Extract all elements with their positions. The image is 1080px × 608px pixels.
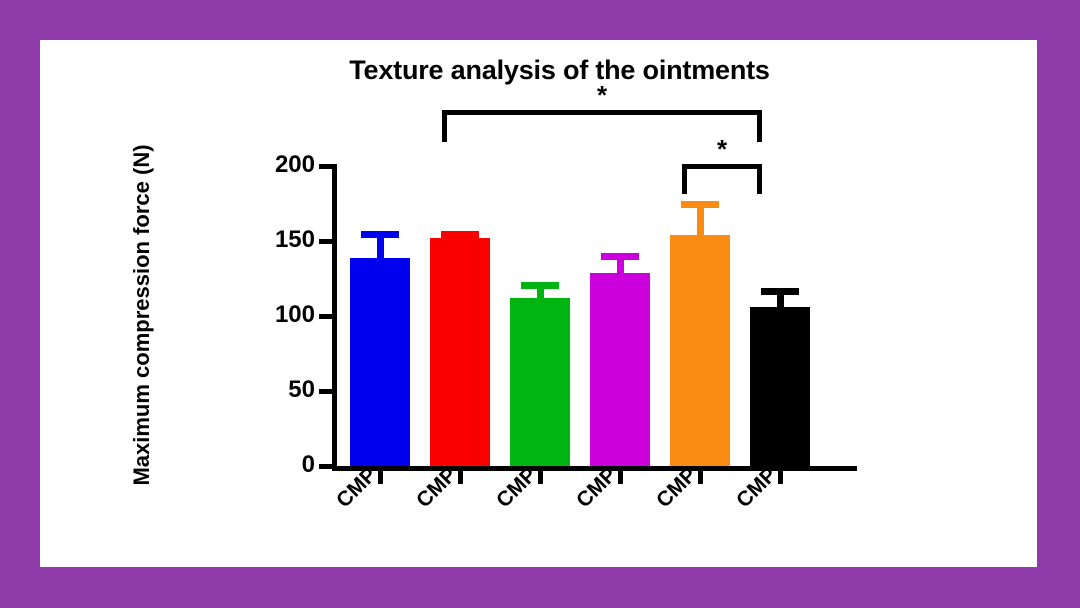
bar-cmp-2	[430, 238, 490, 466]
error-bar-cap	[441, 231, 479, 238]
y-tick-label: 50	[195, 378, 315, 402]
y-tick-label: 100	[195, 303, 315, 327]
significance-star: *	[590, 82, 614, 108]
y-axis-line	[332, 164, 337, 471]
y-tick-label: 150	[195, 228, 315, 252]
plot-area: Maximum compression force (N) 0501001502…	[40, 40, 1037, 567]
error-bar-cap	[601, 253, 639, 260]
error-bar-cap	[521, 282, 559, 289]
y-tick-mark	[319, 464, 332, 469]
chart-figure: Texture analysis of the ointments Maximu…	[40, 40, 1037, 567]
significance-star: *	[710, 136, 734, 162]
y-tick-label: 0	[195, 453, 315, 477]
figure-frame: Texture analysis of the ointments Maximu…	[0, 0, 1080, 608]
bar-cmp-6	[750, 307, 810, 466]
y-tick-mark	[319, 389, 332, 394]
error-bar-cap	[681, 201, 719, 208]
error-bar-cap	[761, 288, 799, 295]
error-bar-cap	[361, 231, 399, 238]
y-tick-mark	[319, 239, 332, 244]
y-axis-title: Maximum compression force (N)	[129, 105, 155, 525]
figure-canvas: Texture analysis of the ointments Maximu…	[40, 40, 1037, 567]
bar-cmp-3	[510, 298, 570, 466]
bar-cmp-5	[670, 235, 730, 466]
bar-cmp-4	[590, 273, 650, 467]
y-tick-mark	[319, 164, 332, 169]
significance-bracket	[682, 164, 762, 194]
y-tick-label: 200	[195, 153, 315, 177]
y-tick-mark	[319, 314, 332, 319]
bar-cmp-1	[350, 258, 410, 467]
